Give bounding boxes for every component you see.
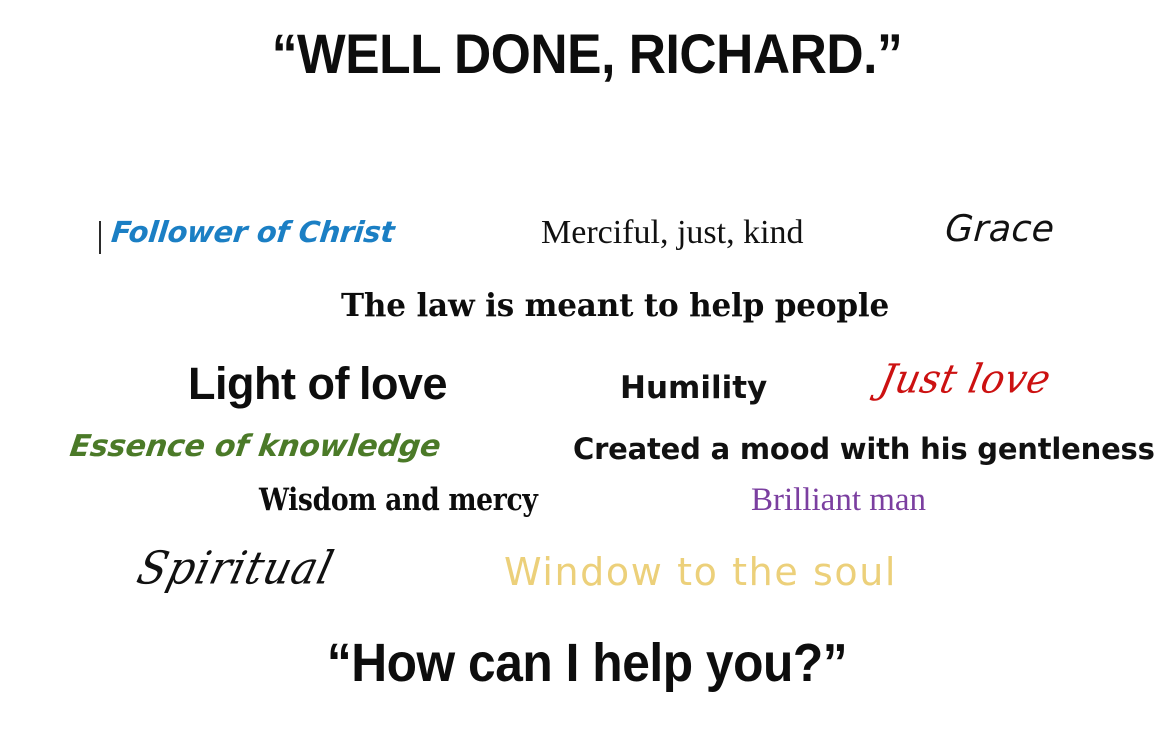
- word-wisdom-and-mercy: Wisdom and mercy: [259, 485, 538, 516]
- word-the-law-is-meant-to-help-people: The law is meant to help people: [341, 289, 889, 321]
- word-light-of-love: Light oflove: [188, 361, 447, 406]
- word-light-of: Light of: [188, 358, 349, 409]
- text-cursor-icon: [99, 221, 101, 254]
- word-follower-of-christ: Follower of Christ: [110, 218, 396, 247]
- word-just-love: Just love: [876, 359, 1055, 399]
- word-grace: Grace: [944, 211, 1056, 248]
- word-created-a-mood-with-his-gentleness: Created a mood with his gentleness: [573, 435, 1155, 464]
- word-window-to-the-soul: Window to the soul: [504, 553, 897, 591]
- word-essence-of-knowledge: Essence of knowledge: [68, 432, 442, 462]
- word-merciful-just-kind: Merciful, just, kind: [541, 216, 804, 250]
- page-title: “WELL DONE, RICHARD.”: [47, 26, 1127, 82]
- word-spiritual: Spiritual: [133, 546, 338, 591]
- word-love: love: [349, 358, 447, 409]
- word-humility: Humility: [620, 373, 767, 404]
- word-brilliant-man: Brilliant man: [751, 484, 926, 517]
- word-collage-slide: “WELL DONE, RICHARD.” Follower of Christ…: [0, 0, 1174, 739]
- page-footer-quote: “How can I help you?”: [47, 636, 1127, 690]
